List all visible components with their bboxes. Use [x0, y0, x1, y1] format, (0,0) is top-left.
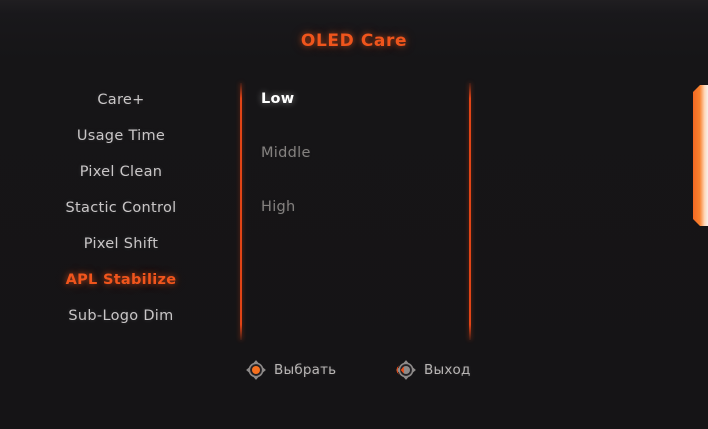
osd-position-marker	[693, 85, 708, 226]
sidebar-menu: Care+ Usage Time Pixel Clean Stactic Con…	[16, 82, 226, 334]
sidebar-item-care-plus[interactable]: Care+	[16, 82, 226, 118]
page-title: OLED Care	[0, 31, 708, 51]
footer-hints: Выбрать Выход	[245, 354, 545, 386]
option-item-high[interactable]: High	[261, 194, 461, 248]
divider-left	[240, 83, 242, 340]
option-item-middle[interactable]: Middle	[261, 140, 461, 194]
sidebar-item-pixel-shift[interactable]: Pixel Shift	[16, 226, 226, 262]
sidebar-item-sub-logo-dim[interactable]: Sub-Logo Dim	[16, 298, 226, 334]
sidebar-item-apl-stabilize[interactable]: APL Stabilize	[16, 262, 226, 298]
select-button-label: Выбрать	[274, 362, 336, 378]
sidebar-item-stactic-control[interactable]: Stactic Control	[16, 190, 226, 226]
divider-right	[469, 83, 471, 340]
joystick-press-icon	[245, 359, 267, 381]
option-item-low[interactable]: Low	[261, 86, 461, 140]
osd-position-marker-bar	[693, 85, 708, 226]
sidebar-item-pixel-clean[interactable]: Pixel Clean	[16, 154, 226, 190]
exit-button-label: Выход	[424, 362, 471, 378]
select-button[interactable]: Выбрать	[245, 354, 336, 386]
options-list: Low Middle High	[261, 86, 461, 248]
sidebar-item-usage-time[interactable]: Usage Time	[16, 118, 226, 154]
exit-button[interactable]: Выход	[395, 354, 471, 386]
joystick-left-icon	[395, 359, 417, 381]
osd-menu-window: OLED Care Care+ Usage Time Pixel Clean S…	[0, 0, 708, 429]
